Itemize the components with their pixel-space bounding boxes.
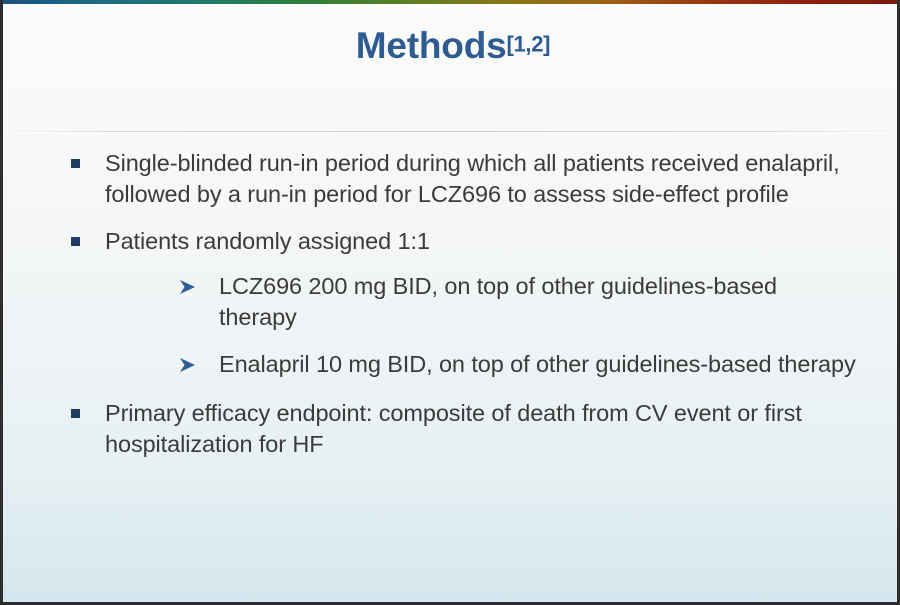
sub-list-item: Enalapril 10 mg BID, on top of other gui…: [175, 349, 857, 382]
page-title: Methods: [356, 26, 507, 67]
title-reference-superscript: [1,2]: [506, 32, 550, 57]
slide-title-area: Methods[1,2]: [3, 26, 900, 67]
title-divider-highlight: [3, 132, 900, 134]
list-item: Single-blinded run-in period during whic…: [67, 148, 857, 210]
list-item-label: Primary efficacy endpoint: composite of …: [105, 398, 857, 460]
square-bullet-icon: [67, 148, 105, 168]
presentation-slide: Methods[1,2] Single-blinded run-in perio…: [0, 0, 900, 605]
arrow-bullet-icon: [175, 349, 219, 382]
list-item: Primary efficacy endpoint: composite of …: [67, 398, 857, 460]
list-item-label: Patients randomly assigned 1:1: [105, 226, 857, 257]
list-item: Patients randomly assigned 1:1: [67, 226, 857, 257]
decorative-color-strip: [3, 0, 897, 4]
sub-list-item-label: Enalapril 10 mg BID, on top of other gui…: [219, 349, 857, 380]
square-bullet-icon: [67, 226, 105, 246]
arrow-bullet-icon: [175, 271, 219, 304]
sub-list-item-label: LCZ696 200 mg BID, on top of other guide…: [219, 271, 857, 333]
slide-body: Single-blinded run-in period during whic…: [67, 148, 857, 476]
sub-list-item: LCZ696 200 mg BID, on top of other guide…: [175, 271, 857, 333]
list-item-label: Single-blinded run-in period during whic…: [105, 148, 857, 210]
square-bullet-icon: [67, 398, 105, 418]
sub-list: LCZ696 200 mg BID, on top of other guide…: [175, 271, 857, 382]
decorative-strip-highlight: [3, 4, 897, 7]
